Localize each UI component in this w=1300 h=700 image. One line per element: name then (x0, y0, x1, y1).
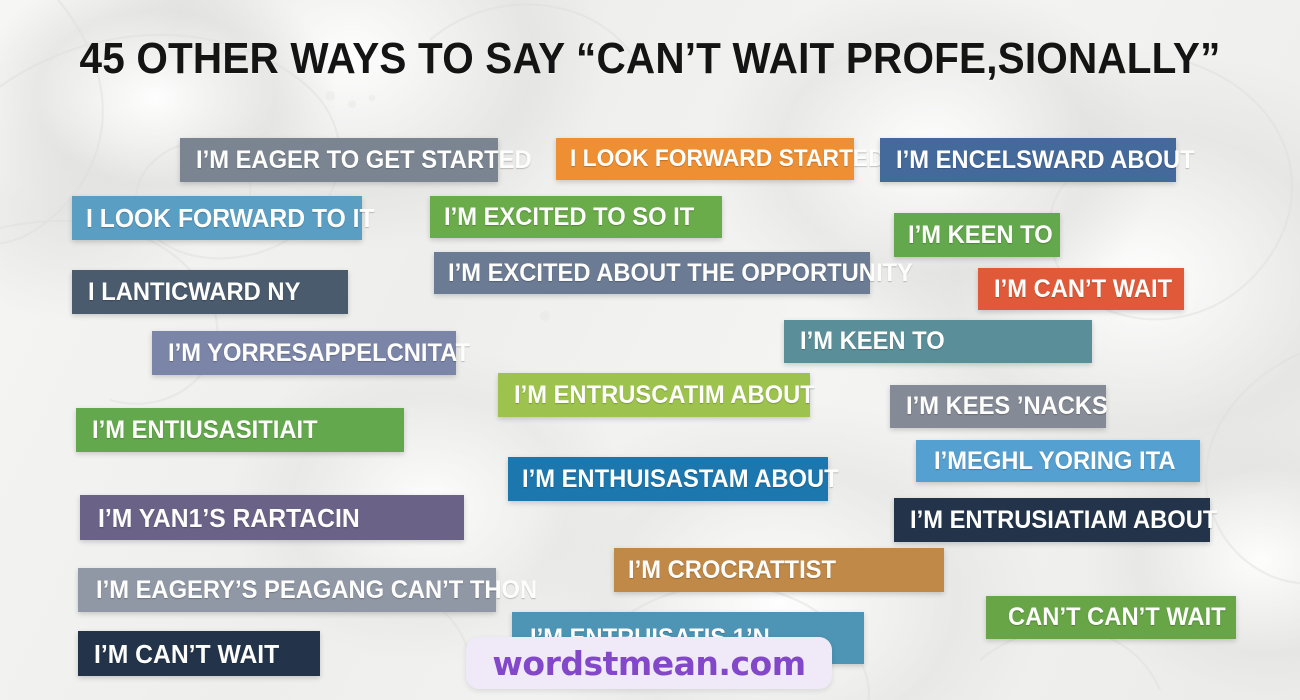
phrase-bar-label: I’M YAN1’S RARTACIN (98, 505, 360, 531)
phrase-bar: I’M CROCRATTIST (614, 548, 944, 592)
phrase-bar-label: I LOOK FORWARD TO IT (86, 205, 375, 231)
phrase-bar: I’M ENCELSWARD ABOUT (880, 138, 1176, 182)
phrase-bar-label: I’M KEEN TO (800, 329, 945, 354)
watermark-text: wordstmean.com (492, 644, 805, 683)
phrase-bar-label: I’M EXCITED TO SO IT (444, 205, 694, 230)
phrase-bar: I’M EXCITED TO SO IT (430, 196, 722, 238)
phrase-bar-label: I’M KEEN TO (908, 223, 1053, 248)
phrase-bar: I’M YAN1’S RARTACIN (80, 495, 464, 540)
phrase-bar: I’M KEEN TO (784, 320, 1092, 363)
phrase-bar-label: I LOOK FORWARD STARTED (570, 147, 885, 171)
phrase-bar: I’M CAN’T WAIT (78, 631, 320, 676)
phrase-bar-label: I’M CAN’T WAIT (994, 277, 1172, 302)
phrase-bar-label: I’MEGHL YORING ITA (934, 449, 1175, 474)
phrase-bar: I LOOK FORWARD TO IT (72, 196, 362, 240)
phrase-bar: I’M KEEN TO (894, 213, 1060, 257)
watermark-badge: wordstmean.com (466, 637, 832, 689)
phrase-bar-label: I’M KEES ’NACKS (906, 394, 1108, 419)
phrase-bar: I’M ENTIUSASITIAIT (76, 408, 404, 452)
phrase-bar: I’M ENTHUISASTAM ABOUT (508, 457, 828, 501)
phrase-bar: I’M KEES ’NACKS (890, 385, 1106, 428)
phrase-bar-label: I’M YORRESAPPELCNITAT (168, 341, 470, 366)
phrase-bar-label: I LANTICWARD NY (88, 280, 300, 305)
phrase-bar-label: I’M CAN’T WAIT (94, 641, 279, 667)
phrase-bar: I’MEGHL YORING ITA (916, 440, 1200, 482)
phrase-bar-label: I’M ENTHUISASTAM ABOUT (522, 467, 839, 492)
phrase-bar-label: I’M ENTRUSCATIM ABOUT (514, 383, 815, 408)
poster-canvas: 45 OTHER WAYS TO SAY “CAN’T WAIT PROFE,S… (0, 0, 1300, 700)
phrase-bar-label: I’M EAGERY’S PEAGANG CAN’T THON (96, 578, 537, 603)
phrase-bar: I’M YORRESAPPELCNITAT (152, 331, 456, 375)
phrase-bar-label: I’M ENTIUSASITIAIT (92, 418, 318, 443)
phrase-bar-label: I’M EAGER TO GET STARTED (196, 148, 532, 173)
phrase-bar: I LANTICWARD NY (72, 270, 348, 314)
phrase-bar-label: I’M ENCELSWARD ABOUT (896, 148, 1195, 173)
phrase-bar: I LOOK FORWARD STARTED (556, 138, 854, 180)
phrase-bar: CAN’T CAN’T WAIT (986, 596, 1236, 639)
phrase-bar-label: I’M ENTRUSIATIAM ABOUT (910, 508, 1217, 533)
phrase-bar: I’M ENTRUSCATIM ABOUT (498, 373, 810, 417)
phrase-bar-label: I’M EXCITED ABOUT THE OPPORTUNITY (448, 261, 913, 286)
phrase-bar: I’M EAGERY’S PEAGANG CAN’T THON (78, 568, 496, 612)
page-title: 45 OTHER WAYS TO SAY “CAN’T WAIT PROFE,S… (52, 34, 1248, 84)
phrase-bar: I’M EAGER TO GET STARTED (180, 138, 498, 182)
phrase-bar: I’M ENTRUSIATIAM ABOUT (894, 498, 1210, 542)
phrase-bar: I’M EXCITED ABOUT THE OPPORTUNITY (434, 252, 870, 294)
phrase-bar-label: I’M CROCRATTIST (628, 558, 836, 583)
phrase-bar: I’M CAN’T WAIT (978, 268, 1184, 310)
phrase-bar-label: CAN’T CAN’T WAIT (1008, 605, 1226, 630)
